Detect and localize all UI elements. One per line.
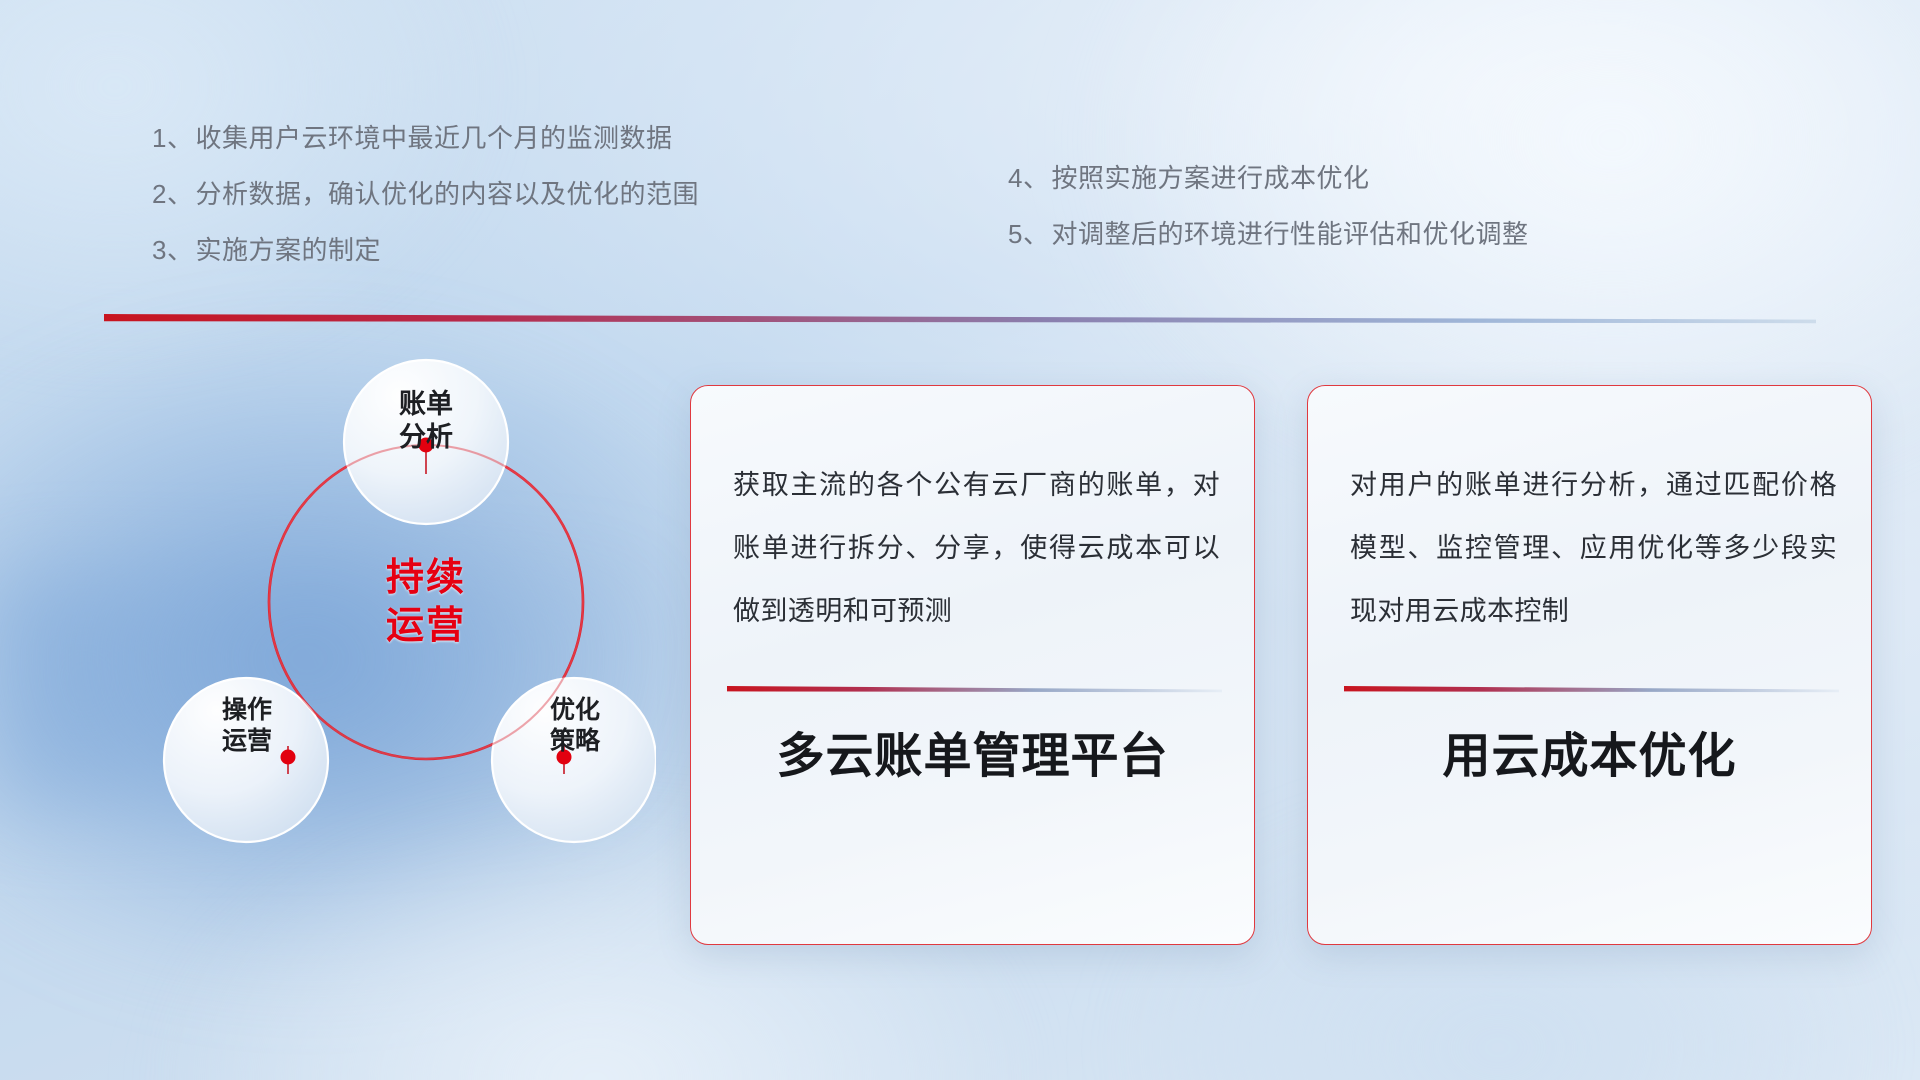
step-text: 实施方案的制定 [195,235,381,265]
card-cloud-cost-optimization[interactable]: 对用户的账单进行分析，通过匹配价格模型、监控管理、应用优化等多少段实现对用云成本… [1307,385,1872,945]
step-item: 2、分析数据，确认优化的内容以及优化的范围 [152,181,699,207]
step-number: 3、 [152,235,193,265]
step-number: 1、 [152,123,193,153]
connector-dot-left [281,750,296,765]
card-multi-cloud-billing[interactable]: 获取主流的各个公有云厂商的账单，对账单进行拆分、分享，使得云成本可以做到透明和可… [690,385,1255,945]
steps-left-column: 1、收集用户云环境中最近几个月的监测数据 2、分析数据，确认优化的内容以及优化的… [152,125,699,263]
steps-right-column: 4、按照实施方案进行成本优化 5、对调整后的环境进行性能评估和优化调整 [1008,165,1528,247]
card-body-text: 对用户的账单进行分析，通过匹配价格模型、监控管理、应用优化等多少段实现对用云成本… [1350,454,1837,643]
connector-dot-right [557,750,572,765]
step-number: 2、 [152,179,193,209]
node-circle-right [492,678,656,842]
step-item: 4、按照实施方案进行成本优化 [1008,165,1528,191]
step-text: 收集用户云环境中最近几个月的监测数据 [195,123,672,153]
diagram-svg [96,340,656,940]
card-accent-rule [727,686,1222,693]
step-text: 分析数据，确认优化的内容以及优化的范围 [195,179,699,209]
slide-canvas: 1、收集用户云环境中最近几个月的监测数据 2、分析数据，确认优化的内容以及优化的… [0,0,1920,1080]
section-divider [104,314,1816,324]
card-accent-rule [1344,686,1839,693]
step-text: 按照实施方案进行成本优化 [1051,163,1369,193]
step-item: 3、实施方案的制定 [152,237,699,263]
step-item: 1、收集用户云环境中最近几个月的监测数据 [152,125,699,151]
continuous-operation-diagram: 账单 分析 持续 运营 操作 运营 优化 策略 [96,340,656,940]
step-number: 4、 [1008,163,1049,193]
step-number: 5、 [1008,219,1049,249]
card-title: 用云成本优化 [1308,716,1871,786]
connector-dot-top [419,438,434,453]
card-body-text: 获取主流的各个公有云厂商的账单，对账单进行拆分、分享，使得云成本可以做到透明和可… [733,454,1220,643]
step-text: 对调整后的环境进行性能评估和优化调整 [1051,219,1528,249]
node-circle-left [164,678,328,842]
card-title: 多云账单管理平台 [691,716,1254,786]
step-item: 5、对调整后的环境进行性能评估和优化调整 [1008,221,1528,247]
